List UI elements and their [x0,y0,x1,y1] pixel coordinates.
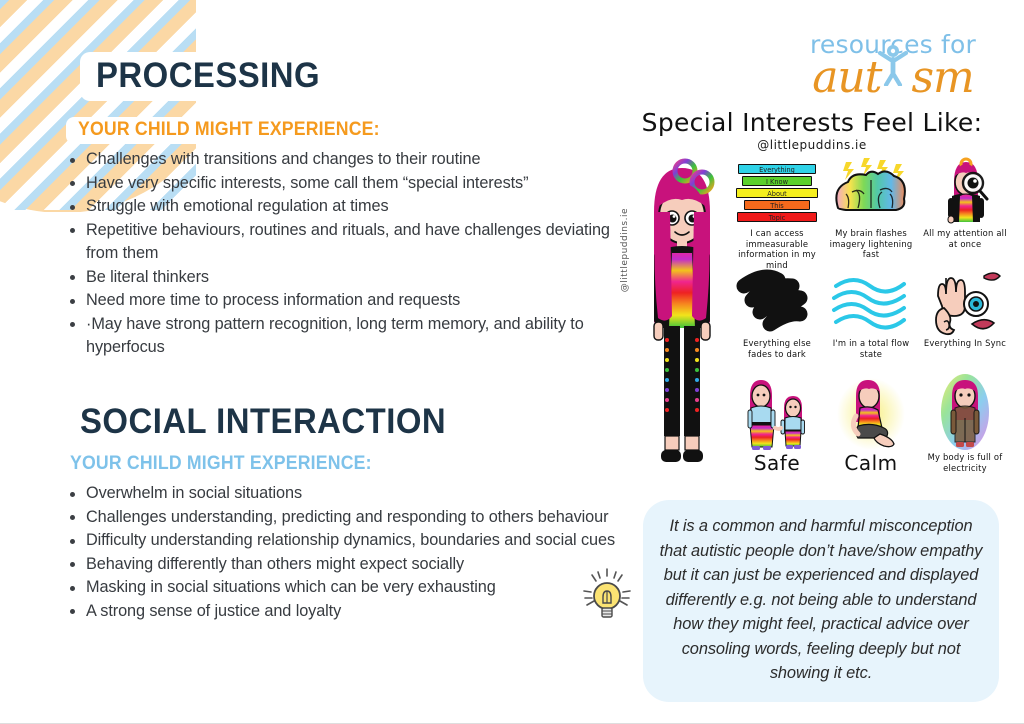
list-item: A strong sense of justice and loyalty [86,600,626,624]
list-item: Be literal thinkers [86,266,646,290]
section-subtitle-social: YOUR CHILD MIGHT EXPERIENCE: [70,454,372,474]
tip-callout-box: It is a common and harmful misconception… [643,500,999,702]
book-i-know: I Know [742,176,812,186]
slide-page: resources for autsm PROCESSING YOUR CHIL… [0,0,1024,724]
list-item: Masking in social situations which can b… [86,576,626,600]
rainbow-brain-icon [824,156,918,228]
section-title-box-social: SOCIAL INTERACTION [64,398,485,447]
logo-word-sm: sm [911,52,973,103]
info-caption: All my attention all at once [918,228,1012,249]
logo-word-aut: aut [812,52,881,103]
book-topic: Topic [737,212,817,222]
section-subtitle-processing: YOUR CHILD MIGHT EXPERIENCE: [78,120,380,140]
senses-hand-ear-eye-lips-icon [918,266,1012,338]
info-cell-fades-dark: Everything else fades to dark [730,266,824,359]
girl-sitting-icon [824,374,918,452]
girl-glowing-aura-icon [918,374,1012,452]
section-subtitle-box-processing: YOUR CHILD MIGHT EXPERIENCE: [66,117,414,144]
person-figure-icon [876,42,910,86]
list-item: Repetitive behaviours, routines and ritu… [86,219,646,266]
bullet-list-social: Overwhelm in social situations Challenge… [60,482,626,623]
autistic-girl-illustration [634,154,730,476]
info-cell-in-sync: Everything In Sync [918,266,1012,349]
info-cell-electricity: My body is full of electricity [918,374,1012,473]
list-item: ·May have strong pattern recognition, lo… [86,313,646,360]
page-title-processing: PROCESSING [96,58,320,93]
infographic-credit: @littlepuddins.ie [612,138,1012,152]
section-title-box-processing: PROCESSING [80,52,350,101]
info-caption: I can access immeasurable information in… [730,228,824,270]
info-caption: Everything else fades to dark [730,338,824,359]
girl-magnifier-icon [918,156,1012,228]
info-cell-flow-state: I'm in a total flow state [824,266,918,359]
mother-and-child-icon [730,374,824,452]
book-everything: Everything [738,164,816,174]
list-item: Challenges understanding, predicting and… [86,506,626,530]
info-cell-attention: All my attention all at once [918,156,1012,249]
info-caption: My brain flashes imagery lightening fast [824,228,918,260]
content-column: PROCESSING YOUR CHILD MIGHT EXPERIENCE: … [0,0,608,724]
info-caption: Calm [824,452,918,474]
blue-waves-icon [824,266,918,338]
bullet-list-processing: Challenges with transitions and changes … [60,148,646,360]
tip-text: It is a common and harmful misconception… [659,514,983,686]
list-item: Have very specific interests, some call … [86,172,646,196]
info-caption: Everything In Sync [918,338,1012,349]
infographic-grid: Everything I Know About This Topic I can… [730,156,1012,488]
black-scribble-icon [730,266,824,338]
info-caption: Safe [730,452,824,474]
info-cell-brain: My brain flashes imagery lightening fast [824,156,918,260]
list-item: Challenges with transitions and changes … [86,148,646,172]
book-about: About [736,188,818,198]
info-cell-books: Everything I Know About This Topic I can… [730,156,824,270]
logo-bottom-text: autsm [798,56,988,104]
info-caption: I'm in a total flow state [824,338,918,359]
info-cell-safe: Safe [730,374,824,474]
info-cell-calm: Calm [824,374,918,474]
list-item: Struggle with emotional regulation at ti… [86,195,646,219]
infographic-special-interests: Special Interests Feel Like: @littlepudd… [612,108,1012,488]
info-caption: My body is full of electricity [918,452,1012,473]
book-stack-icon: Everything I Know About This Topic [730,156,824,228]
page-title-social-interaction: SOCIAL INTERACTION [80,404,446,439]
list-item: Behaving differently than others might e… [86,553,626,577]
list-item: Difficulty understanding relationship dy… [86,529,626,553]
book-this: This [744,200,810,210]
list-item: Need more time to process information an… [86,289,646,313]
section-subtitle-box-social: YOUR CHILD MIGHT EXPERIENCE: [58,451,406,478]
list-item: Overwhelm in social situations [86,482,626,506]
brand-logo: resources for autsm [798,32,988,104]
infographic-title: Special Interests Feel Like: [612,108,1012,137]
